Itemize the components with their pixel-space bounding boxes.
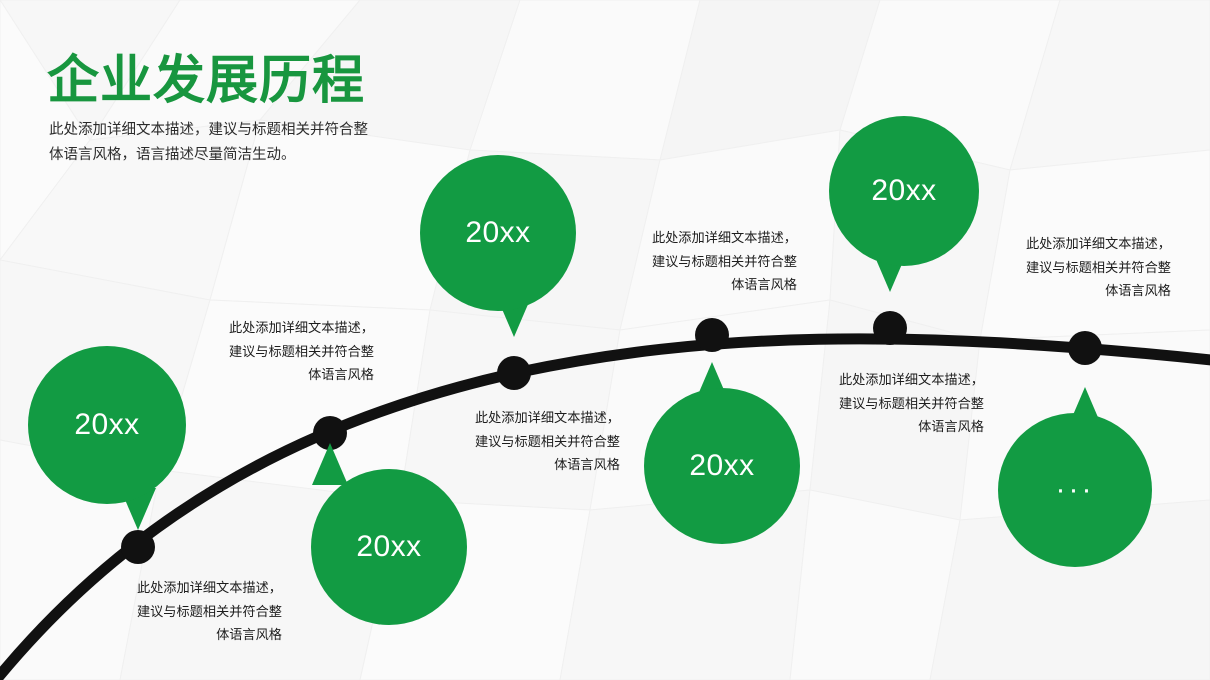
timeline-description-6: 此处添加详细文本描述，建议与标题相关并符合整体语言风格 — [1019, 232, 1171, 303]
timeline-bubble-label-5: 20xx — [871, 174, 936, 208]
timeline-bubble-4[interactable]: 20xx — [644, 388, 800, 544]
timeline-bubble-2[interactable]: 20xx — [311, 469, 467, 625]
page-subtitle: 此处添加详细文本描述，建议与标题相关并符合整体语言风格，语言描述尽量简洁生动。 — [49, 118, 369, 168]
timeline-description-3: 此处添加详细文本描述，建议与标题相关并符合整体语言风格 — [468, 406, 620, 477]
timeline-bubble-label-1: 20xx — [74, 408, 139, 442]
timeline-node-dot-6[interactable] — [1068, 331, 1102, 365]
timeline-description-2: 此处添加详细文本描述，建议与标题相关并符合整体语言风格 — [222, 316, 374, 387]
timeline-bubble-label-2: 20xx — [356, 530, 421, 564]
timeline-node-dot-5[interactable] — [873, 311, 907, 345]
timeline-bubble-label-4: 20xx — [689, 449, 754, 483]
timeline-bubble-1[interactable]: 20xx — [28, 346, 186, 504]
timeline-bubble-5[interactable]: 20xx — [829, 116, 979, 266]
page-title: 企业发展历程 — [47, 52, 365, 110]
timeline-node-dot-4[interactable] — [695, 318, 729, 352]
slide-canvas: 企业发展历程 此处添加详细文本描述，建议与标题相关并符合整体语言风格，语言描述尽… — [0, 0, 1210, 680]
timeline-bubble-label-3: 20xx — [465, 216, 530, 250]
timeline-bubble-6[interactable]: ··· — [998, 413, 1152, 567]
timeline-node-dot-3[interactable] — [497, 356, 531, 390]
timeline-description-1: 此处添加详细文本描述，建议与标题相关并符合整体语言风格 — [130, 576, 282, 647]
timeline-node-dot-1[interactable] — [121, 530, 155, 564]
bubble-tail-2 — [312, 443, 348, 485]
timeline-description-4: 此处添加详细文本描述，建议与标题相关并符合整体语言风格 — [645, 226, 797, 297]
timeline-description-5: 此处添加详细文本描述，建议与标题相关并符合整体语言风格 — [832, 368, 984, 439]
timeline-bubble-3[interactable]: 20xx — [420, 155, 576, 311]
timeline-bubble-label-6: ··· — [1056, 473, 1095, 507]
